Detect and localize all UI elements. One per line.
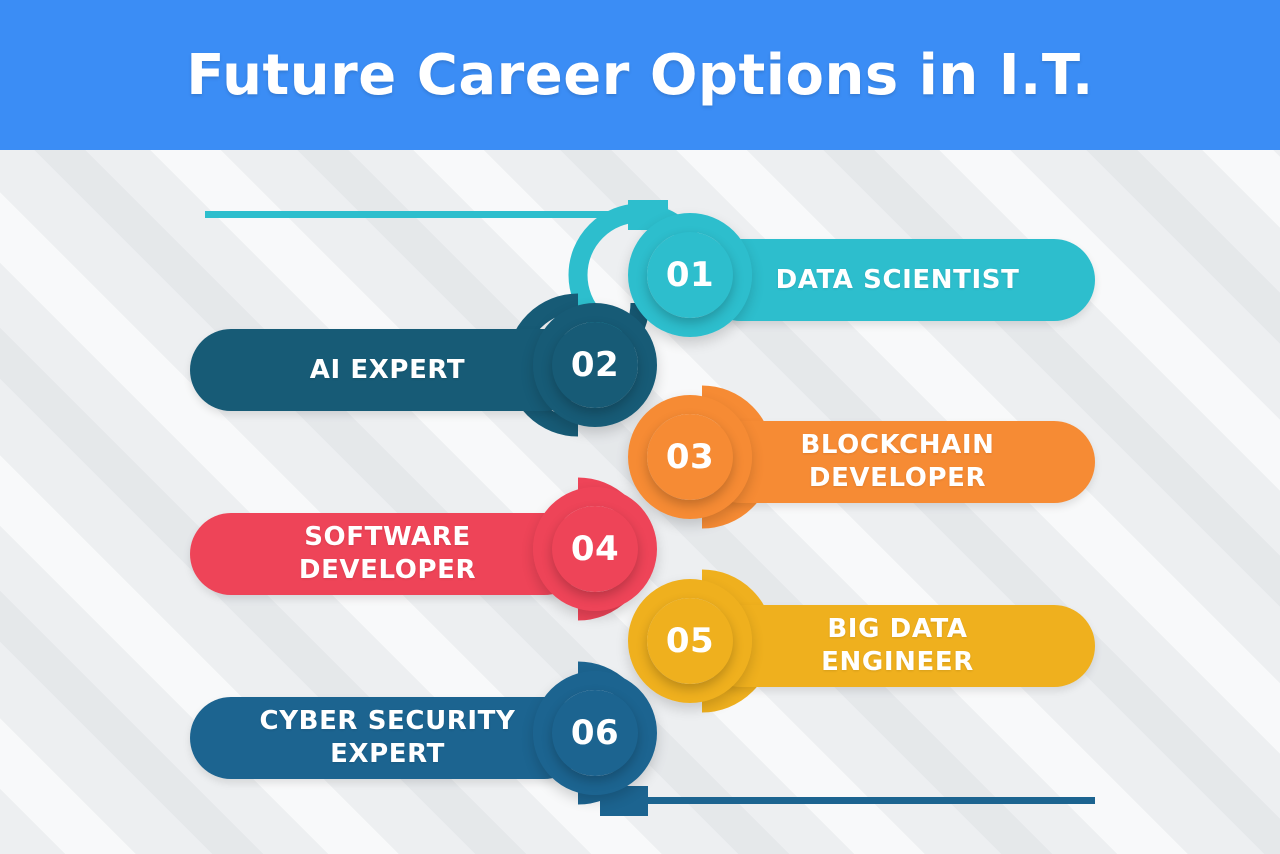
career-number-01: 01 <box>666 255 714 295</box>
career-number-disc-01[interactable]: 01 <box>647 232 733 318</box>
career-label-03: BLOCKCHAIN DEVELOPER <box>800 429 994 495</box>
career-label-01: DATA SCIENTIST <box>776 264 1020 297</box>
career-pill-03[interactable]: BLOCKCHAIN DEVELOPER <box>700 421 1095 503</box>
career-label-05: BIG DATA ENGINEER <box>821 613 974 679</box>
career-label-02: AI EXPERT <box>310 354 465 387</box>
career-pill-06[interactable]: CYBER SECURITY EXPERT <box>190 697 585 779</box>
career-pill-05[interactable]: BIG DATA ENGINEER <box>700 605 1095 687</box>
career-number-disc-05[interactable]: 05 <box>647 598 733 684</box>
career-number-disc-02[interactable]: 02 <box>552 322 638 408</box>
career-label-04: SOFTWARE DEVELOPER <box>299 521 476 587</box>
career-number-disc-04[interactable]: 04 <box>552 506 638 592</box>
career-pill-02[interactable]: AI EXPERT <box>190 329 585 411</box>
infographic-page: Future Career Options in I.T. <box>0 0 1280 854</box>
career-pill-01[interactable]: DATA SCIENTIST <box>700 239 1095 321</box>
career-number-03: 03 <box>666 437 714 477</box>
page-title: Future Career Options in I.T. <box>186 43 1094 108</box>
career-number-02: 02 <box>571 345 619 385</box>
career-label-06: CYBER SECURITY EXPERT <box>260 705 516 771</box>
career-number-06: 06 <box>571 713 619 753</box>
header-banner: Future Career Options in I.T. <box>0 0 1280 150</box>
career-number-05: 05 <box>666 621 714 661</box>
career-pill-04[interactable]: SOFTWARE DEVELOPER <box>190 513 585 595</box>
career-number-disc-06[interactable]: 06 <box>552 690 638 776</box>
career-number-04: 04 <box>571 529 619 569</box>
career-number-disc-03[interactable]: 03 <box>647 414 733 500</box>
career-list: DATA SCIENTIST 01 AI EXPERT 02 BLOCKCH <box>0 150 1280 854</box>
